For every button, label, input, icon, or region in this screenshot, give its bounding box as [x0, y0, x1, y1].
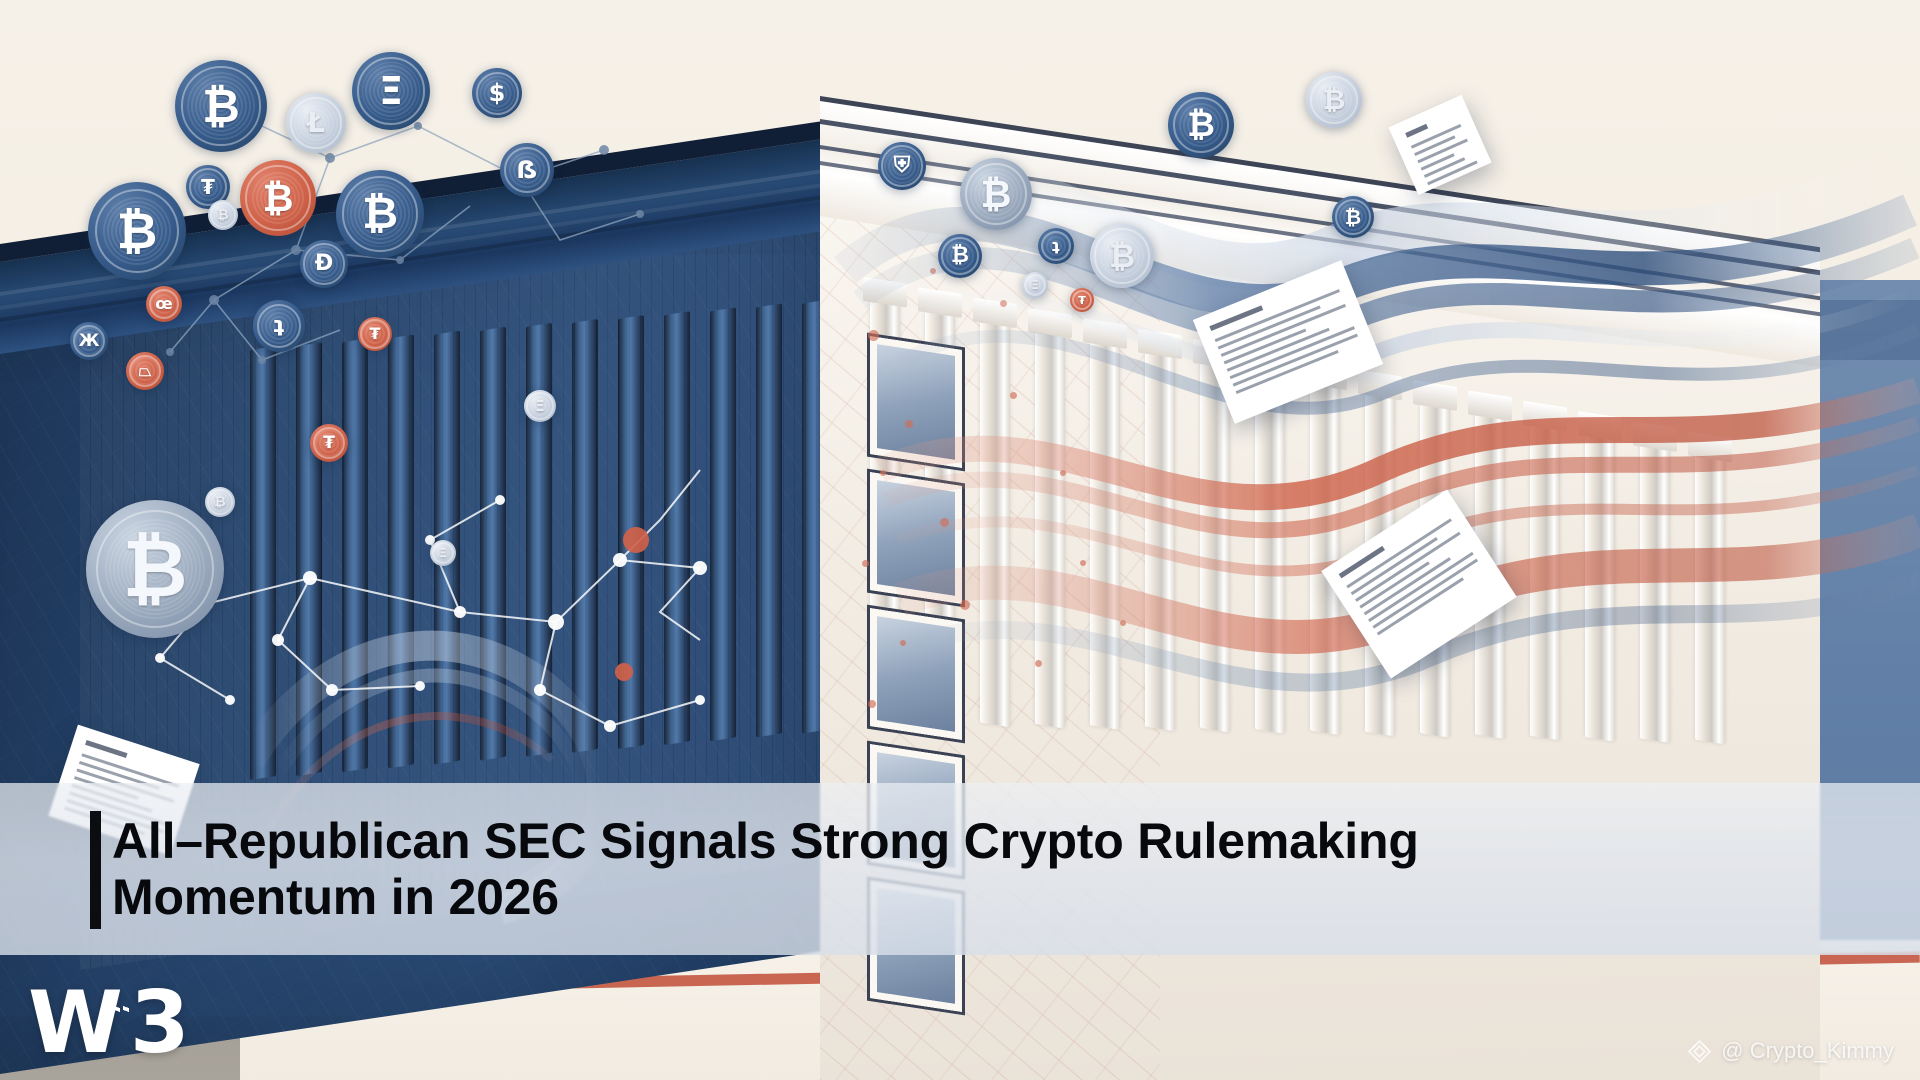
circuit-node-dot	[862, 560, 869, 567]
navy-fluting-line	[729, 232, 739, 873]
tether-coin: ₮	[1070, 288, 1094, 312]
coin-symbol: ₿	[1109, 240, 1135, 272]
white-column	[1200, 362, 1230, 733]
bitcoin-coin: ₿	[960, 158, 1032, 230]
coin-symbol: ẞ	[516, 158, 538, 182]
title-overlay-band: All–Republican SEC Signals Strong Crypto…	[0, 783, 1920, 955]
navy-fluting-line	[795, 222, 805, 863]
coin-symbol: ₿	[202, 83, 240, 129]
bitcoin-coin: ₿	[336, 170, 424, 258]
circuit-node-dot	[930, 268, 936, 274]
logo-letter-3: 3	[130, 980, 185, 1066]
bitcoin-coin: ₿	[88, 182, 186, 280]
coin-symbol: ₿	[362, 192, 398, 236]
coin-symbol: ⛨	[894, 155, 911, 177]
bitcoin-coin: ₿	[175, 60, 267, 152]
ethereum-coin: Ξ	[430, 540, 456, 566]
coin-symbol: ₮	[201, 177, 215, 197]
bitcoin-coin: ₿	[938, 234, 982, 278]
coin-symbol: ₮	[369, 326, 380, 342]
logo-quote-mark-icon	[114, 998, 130, 1020]
circuit-node-dot	[900, 640, 906, 646]
coin-symbol: ₿	[981, 175, 1012, 213]
white-column	[1145, 352, 1175, 732]
coin-symbol: ₿	[1345, 207, 1361, 227]
tether-coin: ₮	[310, 424, 348, 462]
circuit-node-dot	[868, 700, 876, 708]
coin-symbol: ʇ	[274, 315, 285, 337]
ripple-coin: Ж	[70, 322, 108, 360]
coin-symbol: ⏢	[139, 363, 152, 379]
bitcoin-coin: ₿	[208, 200, 238, 230]
ethereum-coin: Ξ	[352, 52, 430, 130]
circuit-node-dot	[880, 470, 886, 476]
watermark: @ Crypto_Kimmy	[1687, 1038, 1894, 1064]
page-title: All–Republican SEC Signals Strong Crypto…	[112, 813, 1582, 925]
ethereum-coin: Ξ	[1022, 272, 1048, 298]
solana-coin: ʇ	[1038, 228, 1074, 264]
tether-coin: ₮	[358, 317, 392, 351]
coin-symbol: ₿	[263, 179, 294, 217]
circuit-node-dot	[1060, 470, 1066, 476]
coin-symbol: ₮	[323, 435, 335, 452]
watermark-handle: @ Crypto_Kimmy	[1721, 1038, 1894, 1064]
litecoin-coin: Ł	[286, 93, 346, 153]
white-building-window	[870, 336, 962, 468]
w3-logo[interactable]: W 3	[28, 980, 185, 1066]
bitcoin-coin: ₿	[1090, 224, 1154, 288]
navy-fluting-line	[751, 228, 761, 869]
solana-coin: ʇ	[253, 300, 305, 352]
white-column	[1035, 331, 1065, 729]
navy-fluting-line	[696, 236, 706, 877]
coin-symbol: Ξ	[535, 399, 544, 414]
navy-fluting-line	[707, 235, 717, 876]
coin-symbol: Ξ	[439, 547, 447, 559]
circuit-node-dot	[1035, 660, 1042, 667]
coin-symbol: Ł	[307, 109, 325, 137]
coin-symbol: $	[489, 81, 506, 105]
document-text-line	[1236, 350, 1339, 394]
ethereum-coin: Ξ	[524, 390, 556, 422]
coin-symbol: ₿	[951, 245, 969, 267]
coin-symbol: Ξ	[1031, 279, 1039, 291]
circuit-node-dot	[1080, 560, 1086, 566]
coin-symbol: ₿	[1187, 108, 1215, 142]
bitcoin-coin: ₿	[1332, 196, 1374, 238]
circuit-node-dot	[1000, 300, 1007, 307]
white-column	[1695, 455, 1725, 745]
coin-symbol: ʇ	[1052, 238, 1060, 254]
document-heading	[1405, 124, 1428, 138]
navy-fluting-line	[806, 220, 816, 861]
article-hero-image: ₿Ξ$Ł₿₿₿₮ẞĐ₮ʇœЖ⏢₿₿₮₿ΞΞ₿₿₿⛨₿₿ʇ₿Ξ₮ All–Repu…	[0, 0, 1920, 1080]
coin-symbol: ₿	[214, 495, 225, 509]
coin-symbol: Đ	[315, 253, 333, 275]
bitcoin-coin: ₿	[1168, 92, 1234, 158]
white-building-window	[870, 472, 962, 604]
coin-symbol: œ	[155, 296, 173, 312]
monero-coin: œ	[146, 286, 182, 322]
white-column	[1255, 372, 1285, 734]
circuit-node-dot	[1120, 620, 1126, 626]
coin-symbol: Ξ	[379, 72, 403, 110]
navy-fluting-line	[762, 227, 772, 868]
polygon-coin: ⏢	[126, 352, 164, 390]
coin-symbol: Ж	[79, 333, 100, 350]
coin-symbol: ₿	[1323, 86, 1346, 114]
shield-coin: ⛨	[878, 142, 926, 190]
white-column	[1585, 434, 1615, 742]
logo-letter-w: W	[28, 980, 118, 1066]
navy-fluting-line	[718, 233, 728, 874]
coin-symbol: ₿	[117, 206, 158, 256]
white-column	[1310, 383, 1340, 736]
document-heading	[1209, 305, 1263, 331]
usd-coin: Đ	[300, 240, 348, 288]
bitcoin-coin: ₿	[1306, 72, 1362, 128]
bitcoin-coin: ₿	[205, 487, 235, 517]
navy-fluting-line	[740, 230, 750, 871]
white-column	[1090, 341, 1120, 730]
coin-symbol: ₿	[122, 529, 187, 609]
diamond-gem-icon	[1687, 1039, 1712, 1064]
bitcoin-medallion: ₿	[86, 500, 224, 638]
white-building-window	[870, 608, 962, 740]
coin-symbol: ₮	[1078, 295, 1086, 306]
white-column	[1530, 424, 1560, 741]
circuit-node-dot	[960, 600, 970, 610]
dai-coin: ẞ	[500, 143, 554, 197]
circuit-node-dot	[1010, 392, 1017, 399]
dollar-coin: $	[472, 68, 522, 118]
navy-fluting-line	[773, 225, 783, 866]
bitcoin-coin: ₿	[240, 160, 316, 236]
circuit-node-dot	[868, 330, 879, 341]
coin-symbol: ₿	[217, 208, 228, 222]
title-accent-bar	[90, 811, 101, 929]
circuit-node-dot	[940, 518, 949, 527]
white-column	[1640, 444, 1670, 743]
navy-fluting-line	[784, 223, 794, 864]
circuit-node-dot	[905, 420, 913, 428]
